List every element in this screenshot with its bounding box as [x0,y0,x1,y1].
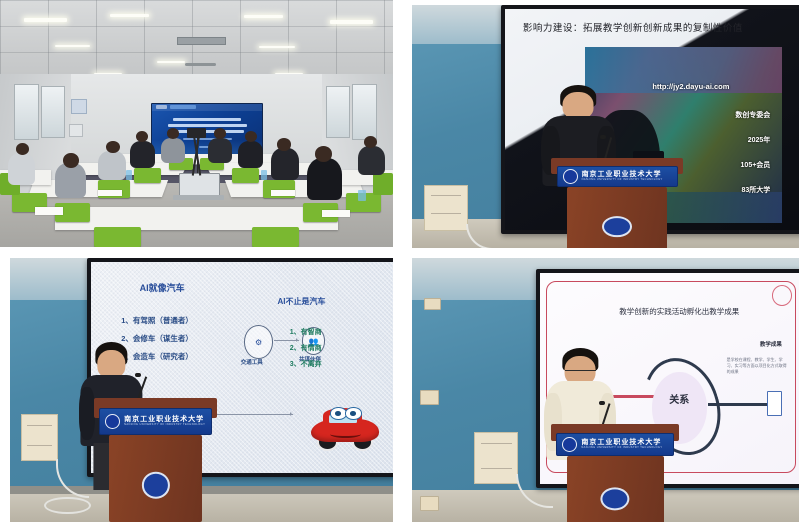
box-line [27,445,52,446]
lecture-podium: 南京工业职业技术大学 NANJING UNIVERSITY OF INDUSTR… [94,398,217,522]
participant-head [106,141,120,153]
slide-title-line [171,130,244,133]
university-seal-icon [105,414,120,429]
lecture-podium: 南京工业职业技术大学 NANJING UNIVERSITY OF INDUSTR… [551,424,679,522]
node-left-caption: 交通工具 [241,358,263,366]
podium-plate-text: 南京工业职业技术大学 NANJING UNIVERSITY OF INDUSTR… [124,416,205,427]
wall-socket [424,298,441,311]
microphone-head [600,135,606,139]
podium-name-plate: 南京工业职业技术大学 NANJING UNIVERSITY OF INDUSTR… [557,166,678,187]
podium-en-name: NANJING UNIVERSITY OF INDUSTRY TECHNOLOG… [581,447,662,450]
window-pane [352,84,378,140]
slide-bullet-2: 2025年 [748,135,771,145]
participant-head [315,146,332,162]
participant-head [364,136,377,148]
box-line [431,213,462,214]
ceiling-light [157,61,185,63]
window-pane [326,86,350,137]
water-bottle [126,170,132,180]
podium-body [567,456,664,522]
laptop-base [173,195,224,200]
photo-collage: 影响力建设：拓展教学创新创新成果的复制性价值 http://jy2.dayu-a… [0,0,799,522]
wall-notice [71,99,87,115]
podium-en-name: NANJING UNIVERSITY OF INDUSTRY TECHNOLOG… [582,179,663,182]
participant-head [277,138,291,150]
document [98,190,122,196]
impact-building-lecture-photo: 影响力建设：拓展教学创新创新成果的复制性价值 http://jy2.dayu-a… [412,5,799,248]
slide-right-item-1: 1、有智商 [290,327,322,337]
participant [8,153,36,185]
participant [358,146,386,176]
podium-name-plate: 南京工业职业技术大学 NANJING UNIVERSITY OF INDUSTR… [99,408,212,435]
podium-name-plate: 南京工业职业技术大学 NANJING UNIVERSITY OF INDUSTR… [556,433,673,456]
participant [161,138,185,163]
ai-like-car-lecture-photo: AI就像汽车 AI不止是汽车 1、有驾照（普通者） 2、会修车（谋生者） 3、会… [10,258,393,522]
participant-head [167,128,179,138]
chair [94,227,141,247]
flow-arrow [274,340,299,341]
camera-tripod-leg [197,136,199,173]
projector-mount [185,63,216,66]
participant [238,141,264,168]
box-line [481,443,512,444]
podium-en-name: NANJING UNIVERSITY OF INDUSTRY TECHNOLOG… [124,424,205,427]
microphone-head [599,401,605,405]
dark-connector-tail [708,403,771,406]
slide-body-text: 是学校在课程、教学、学生、学习、实习等方面以项目化方式取得的成果 [727,357,790,375]
slide-url: http://jy2.dayu-ai.com [652,82,729,91]
slide-heading-left: AI就像汽车 [140,281,185,294]
chair-back [373,173,393,195]
speaker-arm [79,387,95,440]
chair [134,168,162,183]
participant-head [16,143,29,155]
speaker-head [98,350,125,378]
slide-logo-mark [156,105,167,109]
ceiling-light [259,46,294,49]
podium-body [567,187,667,248]
ceiling-light [244,15,283,18]
car-eye [345,407,362,419]
slide-left-item-1: 1、有驾照（普通者） [121,315,193,326]
university-seal-icon [562,437,577,452]
ac-vent [177,37,226,44]
glasses-icon [565,370,596,375]
water-bottle [358,190,365,201]
podium-body [109,435,202,522]
box-line [481,468,512,469]
floor-cable-coil [44,497,90,514]
slide-right-item-2: 2、有情商 [290,343,322,353]
document [322,210,350,217]
document [271,190,295,196]
cartoon-race-car-icon [311,406,378,452]
podium-emblem-icon [602,216,632,238]
ceiling-light [55,45,90,48]
water-bottle [261,170,267,180]
camera-head [187,128,207,138]
conference-room-meeting-photo [0,0,393,247]
slide-kicker: 教学成果 [760,340,782,348]
participant [307,158,342,200]
university-seal-icon [563,169,578,184]
slide-heading-right: AI不止是汽车 [277,296,325,307]
wall-control-box [21,414,57,461]
ceiling-light [330,20,373,24]
slide-center-word: 关系 [652,391,707,406]
wall-control-box [424,185,469,231]
slide-title: 影响力建设：拓展教学创新创新成果的复制性价值 [523,20,785,34]
slide-right-item-3: 3、不离弃 [290,359,322,369]
slide-bullet-1: 数创专委会 [735,110,770,120]
ceiling-light [110,14,149,17]
window-pane [41,86,65,137]
chair [252,227,299,247]
document-icon [767,391,782,416]
slide-org-mark [170,105,196,109]
podium-emblem-icon [601,487,630,510]
ceiling-light [24,18,67,22]
node-transport-icon: ⚙ [244,325,274,359]
podium-plate-text: 南京工业职业技术大学 NANJING UNIVERSITY OF INDUSTR… [582,171,663,182]
slide-bullet-3: 105+会员 [741,160,771,170]
box-line [431,195,462,196]
wall-socket [420,390,439,405]
wall-notice [69,124,83,137]
slide-title-line [168,124,247,127]
teaching-outcome-lecture-photo: 教学创新的实践活动孵化出教学成果 关系 教学成果 是学校在课程、教学、学生、学习… [412,258,799,522]
lecture-podium: 南京工业职业技术大学 NANJING UNIVERSITY OF INDUSTR… [551,158,683,248]
microphone-head [135,373,141,377]
wall-socket [420,496,439,511]
box-line [27,425,52,426]
participant [98,151,126,181]
participant [130,141,156,168]
slide-title: 教学创新的实践活动孵化出教学成果 [592,306,766,317]
slide-bullet-4: 83所大学 [742,185,771,195]
window-pane [14,84,40,140]
chair [232,168,260,183]
slide-header-bar [152,104,262,112]
participant-head [214,128,226,138]
document [35,207,63,214]
podium-cn-name: 南京工业职业技术大学 [581,439,662,446]
slide-title-line [173,118,241,121]
participant [55,163,86,198]
participant-head [63,153,79,168]
podium-emblem-icon [141,472,169,499]
wall-control-box [474,432,519,484]
laptop-screen [179,173,220,197]
participant [208,138,232,163]
flow-arrow-to-car [207,414,293,415]
participant [271,148,299,180]
podium-plate-text: 南京工业职业技术大学 NANJING UNIVERSITY OF INDUSTR… [581,439,662,450]
